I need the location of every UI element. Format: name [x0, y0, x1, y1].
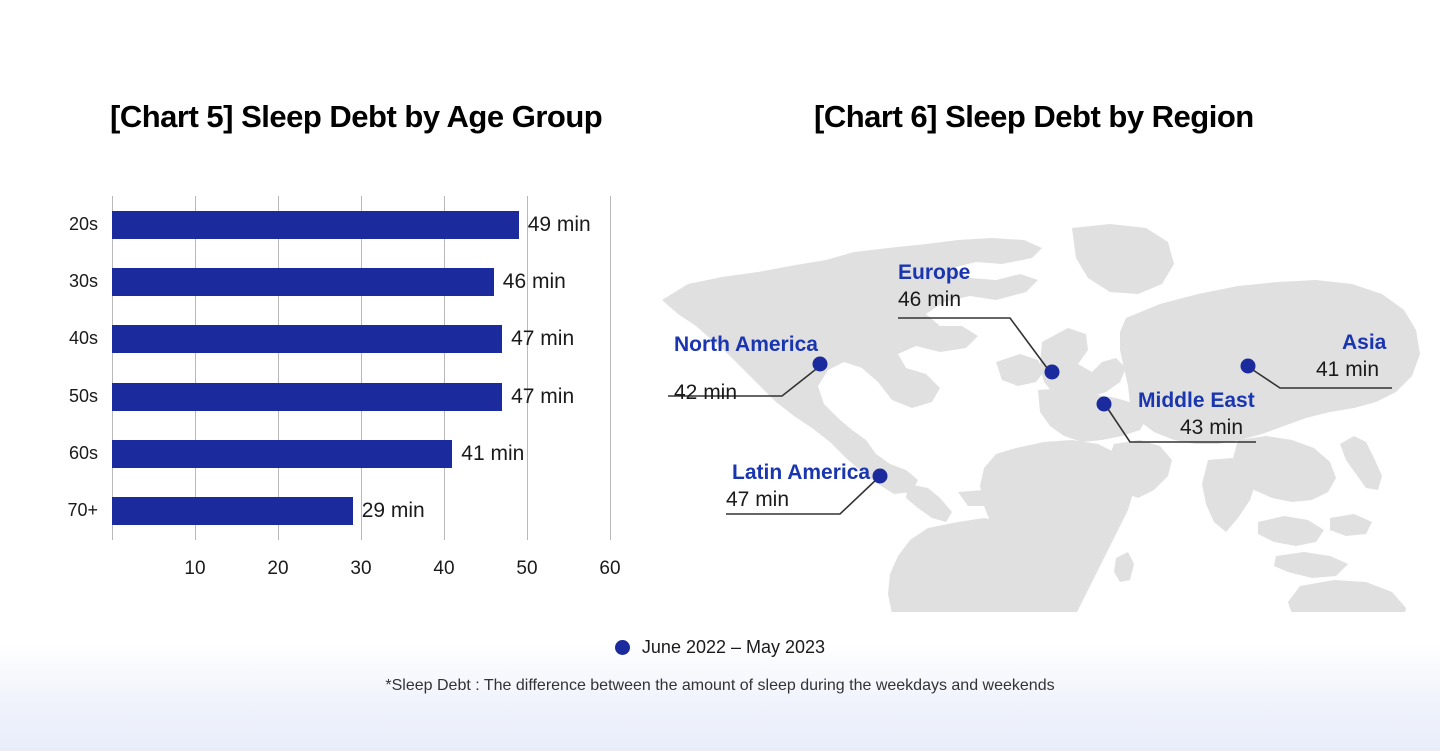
bar-60s[interactable] — [112, 440, 452, 468]
bar-chart-category-axis: 20s30s40s50s60s70+ — [0, 196, 98, 540]
gridline-60 — [610, 196, 611, 540]
bar-chart-sleep-debt-by-age: 20s30s40s50s60s70+ 49 min46 min47 min47 … — [0, 180, 660, 600]
bar-40s[interactable] — [112, 325, 502, 353]
gridline-50 — [527, 196, 528, 540]
bar-20s[interactable] — [112, 211, 519, 239]
indonesia-landmass — [1274, 552, 1348, 578]
legend-label: June 2022 – May 2023 — [642, 637, 825, 658]
north-america-landmass — [662, 238, 1042, 494]
world-map-sleep-debt-by-region: North America 42 min Europe 46 min Asia … — [640, 222, 1430, 612]
bar-70+[interactable] — [112, 497, 353, 525]
region-value-middle-east: 43 min — [1180, 416, 1243, 440]
bar-30s[interactable] — [112, 268, 494, 296]
category-label-30s: 30s — [69, 271, 98, 292]
marker-middle-east — [1097, 397, 1112, 412]
bar-value-label-30s: 46 min — [494, 270, 566, 294]
gridline-20 — [278, 196, 279, 540]
category-label-70+: 70+ — [67, 500, 98, 521]
marker-asia — [1241, 359, 1256, 374]
greenland-landmass — [1072, 224, 1174, 294]
bar-value-label-50s: 47 min — [502, 385, 574, 409]
bar-row[interactable]: 46 min — [112, 268, 610, 296]
bar-row[interactable]: 47 min — [112, 325, 610, 353]
philippines-landmass — [1330, 514, 1372, 536]
bar-row[interactable]: 47 min — [112, 383, 610, 411]
australia-landmass — [1288, 580, 1406, 612]
bar-50s[interactable] — [112, 383, 502, 411]
xtick-40: 40 — [433, 558, 454, 580]
xtick-20: 20 — [267, 558, 288, 580]
bar-value-label-60s: 41 min — [452, 442, 524, 466]
world-map-graphic — [640, 222, 1430, 612]
xtick-30: 30 — [350, 558, 371, 580]
marker-latin-america — [873, 469, 888, 484]
infographic-canvas: [Chart 5] Sleep Debt by Age Group [Chart… — [0, 0, 1440, 751]
central-america-landmass — [906, 484, 952, 522]
madagascar-landmass — [1114, 552, 1134, 582]
xtick-50: 50 — [516, 558, 537, 580]
category-label-40s: 40s — [69, 328, 98, 349]
japan-landmass — [1340, 436, 1382, 490]
bar-value-label-40s: 47 min — [502, 327, 574, 351]
india-landmass — [1202, 458, 1256, 532]
category-label-20s: 20s — [69, 214, 98, 235]
southeast-asia-landmass — [1258, 516, 1324, 546]
region-value-north-america: 42 min — [674, 381, 737, 405]
legend-marker-icon — [615, 640, 630, 655]
gridline-10 — [195, 196, 196, 540]
marker-europe — [1045, 365, 1060, 380]
bar-value-label-20s: 49 min — [519, 213, 591, 237]
region-label-middle-east: Middle East — [1138, 390, 1255, 412]
marker-north-america — [813, 357, 828, 372]
bar-row[interactable]: 41 min — [112, 440, 610, 468]
chart5-title: [Chart 5] Sleep Debt by Age Group — [110, 99, 602, 135]
bar-row[interactable]: 49 min — [112, 211, 610, 239]
region-label-north-america: North America — [674, 334, 772, 356]
bar-row[interactable]: 29 min — [112, 497, 610, 525]
gridline-0 — [112, 196, 113, 540]
legend: June 2022 – May 2023 — [0, 637, 1440, 658]
gridline-40 — [444, 196, 445, 540]
bar-value-label-70+: 29 min — [353, 499, 425, 523]
category-label-60s: 60s — [69, 443, 98, 464]
bar-chart-plot-area: 49 min46 min47 min47 min41 min29 min — [112, 196, 610, 540]
xtick-60: 60 — [599, 558, 620, 580]
region-label-latin-america: Latin America — [732, 462, 870, 484]
region-label-europe: Europe — [898, 262, 970, 284]
region-label-asia: Asia — [1342, 332, 1386, 354]
region-value-europe: 46 min — [898, 288, 961, 312]
region-value-latin-america: 47 min — [726, 488, 789, 512]
gridline-30 — [361, 196, 362, 540]
region-value-asia: 41 min — [1316, 358, 1379, 382]
chart6-title: [Chart 6] Sleep Debt by Region — [814, 99, 1254, 135]
landmass-shapes — [662, 224, 1430, 612]
footnote: *Sleep Debt : The difference between the… — [0, 677, 1440, 695]
xtick-10: 10 — [184, 558, 205, 580]
british-isles-landmass — [996, 354, 1044, 386]
category-label-50s: 50s — [69, 386, 98, 407]
